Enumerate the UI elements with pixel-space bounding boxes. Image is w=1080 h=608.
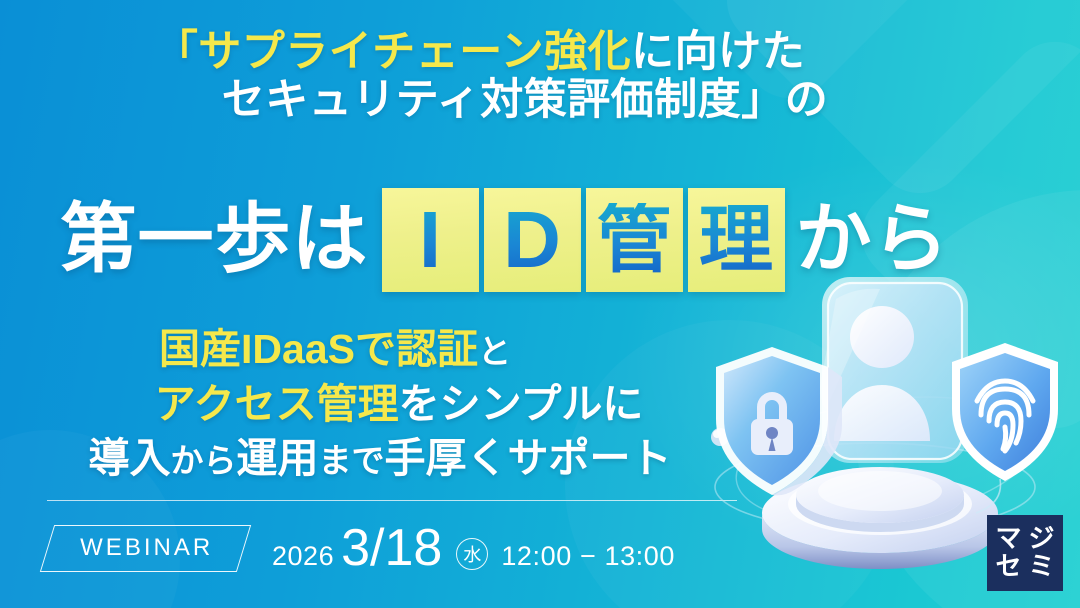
subtitle-line-3-part-b: から (171, 442, 237, 479)
webinar-tag-label: WEBINAR (80, 534, 213, 562)
subtitle-line-2: アクセス管理をシンプルに (0, 377, 760, 432)
headline-line-2: セキュリティ対策評価制度」の (0, 76, 960, 124)
keyword-box-d: D (484, 188, 581, 292)
subtitle-line-1-plain: と (478, 333, 511, 370)
event-time: 12:00 − 13:00 (501, 541, 675, 572)
subtitle-block: 国産IDaaSで認証と アクセス管理をシンプルに 導入から運用まで手厚くサポート (0, 322, 760, 486)
keyword-box-i-label: I (419, 200, 441, 280)
logo-char-1: マ (992, 525, 1025, 553)
subtitle-line-1: 国産IDaaSで認証と (0, 322, 760, 377)
logo-char-3: セ (992, 553, 1025, 581)
subtitle-line-3-part-d: まで (319, 442, 385, 479)
event-day-of-week: 水 (456, 538, 488, 570)
headline: 「サプライチェーン強化に向けた セキュリティ対策評価制度」の (0, 28, 960, 124)
keyword-box-i: I (382, 188, 479, 292)
logo-char-4: ミ (1025, 553, 1058, 581)
keyword-box-kan-label: 管 (597, 203, 671, 277)
keyword-box-d-label: D (503, 200, 561, 280)
subtitle-line-3-part-c: 運用 (237, 435, 319, 481)
subtitle-line-3-part-a: 導入 (89, 435, 171, 481)
subtitle-line-3-part-e: 手厚くサポート (385, 435, 672, 481)
webinar-tag: WEBINAR (40, 525, 251, 572)
subtitle-line-2-highlight: アクセス管理 (155, 381, 399, 427)
event-datetime: 2026 3/18 水 12:00 − 13:00 (272, 522, 675, 574)
event-month-day: 3/18 (341, 522, 442, 574)
subtitle-line-2-plain: をシンプルに (399, 381, 644, 427)
webinar-banner: 「サプライチェーン強化に向けた セキュリティ対策評価制度」の 第一歩は I D … (0, 0, 1080, 608)
headline-line-1-highlight: 「サプライチェーン強化 (155, 28, 631, 76)
headline-line-1-plain: に向けた (631, 28, 805, 76)
footer-divider (47, 500, 737, 501)
event-year: 2026 (272, 541, 334, 572)
footer-bar: WEBINAR 2026 3/18 水 12:00 − 13:00 (47, 522, 675, 574)
logo-char-2: ジ (1025, 525, 1058, 553)
magiseminar-logo[interactable]: マ ジ セ ミ (987, 515, 1063, 591)
subtitle-line-3: 導入から運用まで手厚くサポート (0, 431, 760, 486)
headline-line-1: 「サプライチェーン強化に向けた (0, 28, 960, 76)
headline-line-2-plain: セキュリティ対策評価制度」の (222, 76, 828, 124)
main-headline-prefix: 第一歩は (61, 202, 369, 278)
keyword-box-kan: 管 (586, 188, 683, 292)
subtitle-line-1-highlight: 国産IDaaSで認証 (159, 326, 478, 372)
